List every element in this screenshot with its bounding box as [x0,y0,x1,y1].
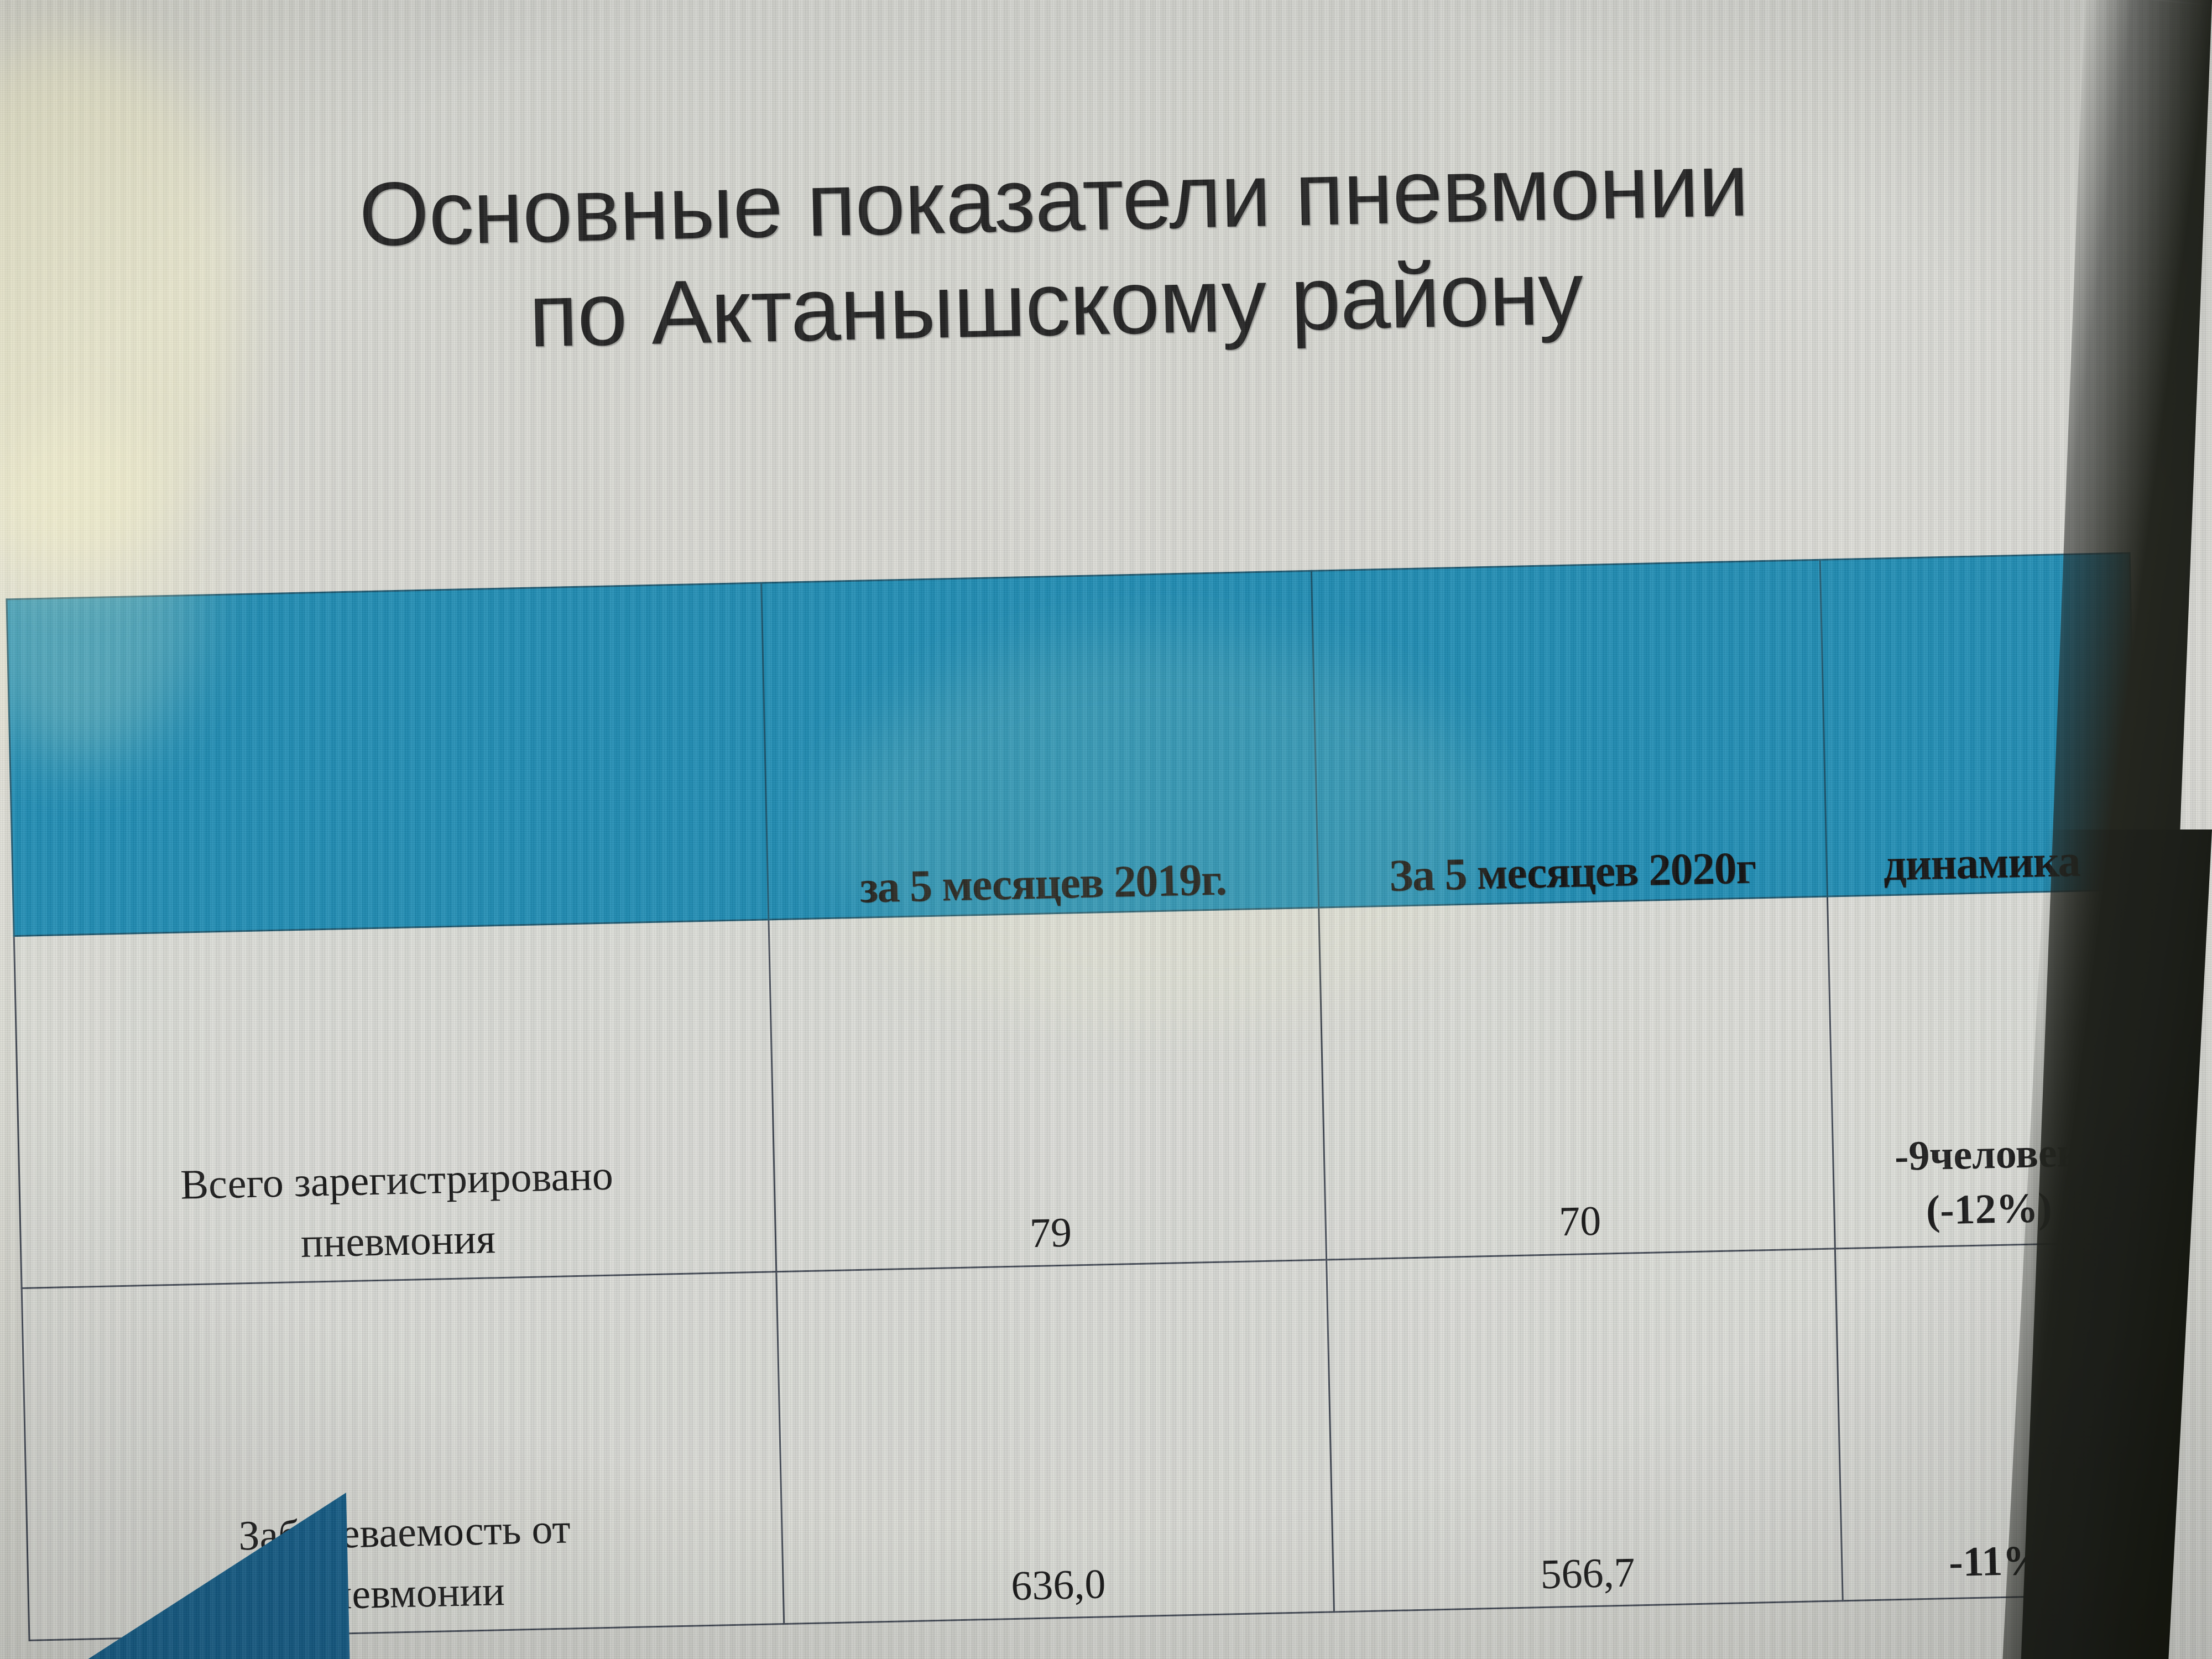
presentation-slide: Основные показатели пневмонии по Актаныш… [0,0,2202,1659]
dynamics-line-2: (-12%) [1926,1185,2053,1234]
cell-incidence-2020: 566,7 [1327,1249,1843,1612]
header-cell-dynamics: динамика [1820,553,2137,896]
table-header-row: за 5 месяцев 2019г. За 5 месяцев 2020г д… [7,553,2137,936]
cell-incidence-dynamics: -11% [1835,1242,2152,1601]
dynamics-line-1: -9человек [1894,1129,2081,1180]
table-row: Всего зарегистрировано пневмония 79 70 -… [14,890,2145,1288]
indicators-table: за 5 месяцев 2019г. За 5 месяцев 2020г д… [6,552,2153,1641]
page-title: Основные показатели пневмонии по Актаныш… [30,124,2080,378]
projected-screen: Основные показатели пневмонии по Актаныш… [0,0,2212,1659]
cell-registered-dynamics: -9человек (-12%) [1827,890,2145,1249]
row-label-registered: Всего зарегистрировано пневмония [14,920,776,1288]
data-table-container: за 5 месяцев 2019г. За 5 месяцев 2020г д… [6,552,2151,1641]
header-cell-2019: за 5 месяцев 2019г. [761,571,1319,920]
cell-incidence-2019: 636,0 [776,1260,1334,1624]
header-cell-blank [7,583,769,936]
corner-decoration-triangle [0,1493,351,1659]
cell-registered-2019: 79 [769,907,1327,1272]
cell-registered-2020: 70 [1319,896,1835,1260]
header-cell-2020: За 5 месяцев 2020г [1311,560,1827,907]
